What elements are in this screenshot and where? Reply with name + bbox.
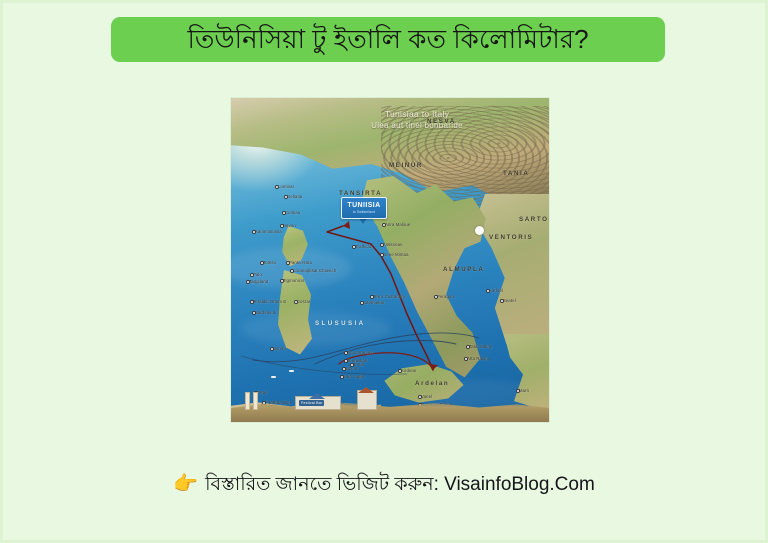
poster-root: তিউনিসিয়া টু ইতালি কত কিলোমিটার? Tunisi… — [0, 0, 768, 543]
map-region-label: TANSIRTA — [339, 190, 382, 197]
map-place-label: Sardinia di — [255, 310, 276, 315]
tower-roof-icon — [358, 387, 374, 393]
map-place-label: Kairi Jagla — [343, 374, 364, 379]
map-marker-dot — [475, 226, 484, 235]
map-place-label: Tunis — [353, 362, 364, 367]
map-place-label: Corzar — [297, 299, 310, 304]
map-place-label: Anra Maloue — [385, 222, 410, 227]
map-place-label: Asssnoan — [383, 242, 403, 247]
map-place-label: Peragoa — [437, 294, 454, 299]
map-place-label: Gene Mintaa — [383, 252, 409, 257]
map-place-label: Firafrinat Bor — [265, 400, 291, 405]
map-place-label: Colmao — [285, 210, 300, 215]
footer-text: বিস্তারিত জানতে ভিজিট করুন: VisainfoBlog… — [205, 473, 595, 497]
sea-shading — [241, 312, 391, 346]
tower-icon — [357, 390, 377, 410]
map-image: Tunisiaa to Italy Ulea aut tinel bonbari… — [231, 98, 549, 422]
map-place-label: Tatal Saline — [469, 344, 492, 349]
title-banner: তিউনিসিয়া টু ইতালি কত কিলোমিটার? — [111, 17, 665, 62]
map-place-label: Tigmonicis — [283, 278, 304, 283]
map-region-label: VENTORIS — [489, 234, 533, 241]
footer: 👉 বিস্তারিত জানতে ভিজিট করুন: VisainfoBl… — [3, 473, 765, 497]
map-region-label: SARTON — [519, 216, 549, 223]
map-place-label: Vanel — [421, 394, 432, 399]
map-place-label: Lominar — [278, 184, 294, 189]
map-region-label: SLUSUSIA — [315, 320, 366, 327]
map-place-label: Nononrangeo — [347, 350, 374, 355]
column-icon — [253, 392, 258, 410]
column-icon — [245, 392, 250, 410]
map-place-label: Bon Ili — [273, 346, 286, 351]
map-place-label: Terra Costandra — [373, 294, 405, 299]
map-region-label: MEINUR — [389, 162, 423, 169]
landmark-sign: Festival Bar — [299, 400, 324, 406]
pointing-hand-icon: 👉 — [173, 474, 198, 494]
map-place-label: Canimekar — [363, 300, 385, 305]
map-place-label: Kirdelar — [401, 368, 417, 373]
map-region-label: ALMUPLA — [443, 266, 484, 273]
map-place-label: Trafficat — [355, 244, 371, 249]
map-heading-line1: Tunisiaa to Italy — [291, 109, 543, 120]
map-place-label: Tomso — [263, 260, 276, 265]
callout-title: TUNIISIA — [347, 202, 380, 210]
map-place-label: Seatel — [503, 298, 516, 303]
map-place-label: Navon — [283, 223, 296, 228]
boat-icon — [271, 376, 276, 378]
map-place-label: Detal — [257, 390, 268, 395]
map-heading: Tunisiaa to Italy Ulea aut tinel bonbari… — [231, 109, 543, 131]
map-region-label: Ardelan — [415, 380, 449, 387]
map-place-label: Panta Istria — [289, 260, 312, 265]
map-canvas: Tunisiaa to Italy Ulea aut tinel bonbari… — [231, 98, 549, 422]
map-place-label: Atta Raisgi — [467, 356, 489, 361]
tunisia-callout: TUNIISIA to Switzerland — [341, 197, 387, 219]
page-title: তিউনিসিয়া টু ইতালি কত কিলোমিটার? — [187, 25, 588, 53]
map-place-label: Tangiland — [249, 279, 268, 284]
roof-icon — [309, 393, 325, 399]
map-place-label: Kanimosolvia — [255, 229, 282, 234]
map-region-label: NESVA — [427, 118, 456, 125]
map-place-label: Marn — [519, 388, 529, 393]
map-place-label: Loranoplisat Chiavich — [293, 268, 336, 273]
boat-icon — [289, 370, 294, 372]
map-place-label: Teraldili Ottom E — [253, 299, 286, 304]
map-place-label: Katfuel — [489, 288, 503, 293]
callout-subtitle: to Switzerland — [353, 210, 376, 215]
map-place-label: Gellatia — [287, 194, 302, 199]
map-place-label: Palo — [253, 272, 262, 277]
map-heading-line2: Ulea aut tinel bonbaride — [291, 120, 543, 131]
map-region-label: TANIA — [503, 170, 529, 177]
